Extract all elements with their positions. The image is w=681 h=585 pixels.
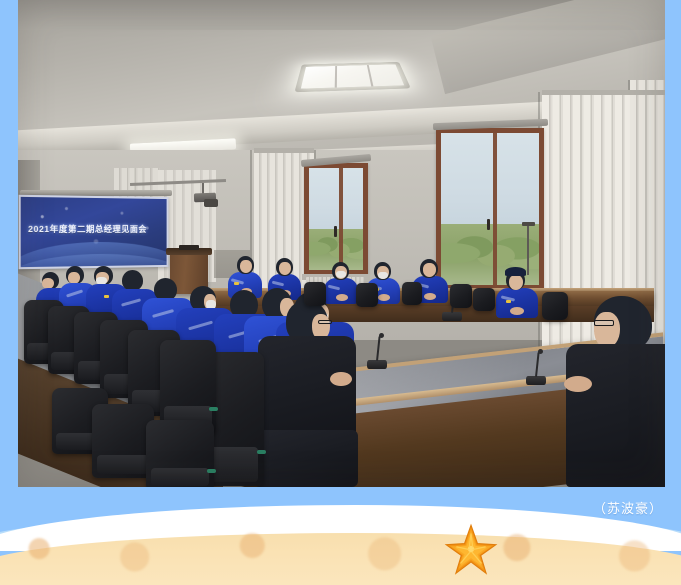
window-right [436, 128, 544, 290]
starfish-icon [441, 522, 501, 576]
chair-far-6 [473, 288, 495, 311]
projection-screen-title: 2021年度第二期总经理见面会 [28, 224, 166, 235]
hands-right [564, 376, 592, 392]
microphone-far [442, 312, 462, 321]
chair-far-3 [402, 282, 422, 305]
chair-far-5 [542, 292, 568, 320]
window-left [304, 163, 368, 275]
chair-row-8 [92, 404, 154, 478]
chair-far-2 [356, 283, 378, 307]
chair-row-9 [146, 420, 214, 487]
beach-footer [0, 487, 681, 585]
blinds-headrail-center [254, 148, 314, 153]
sand-band [0, 533, 681, 585]
hands-center [330, 372, 352, 386]
meeting-room-photo: 2021年度第二期总经理见面会 [18, 0, 665, 487]
eyeglasses-right [594, 320, 614, 326]
chair-far-4 [450, 284, 472, 308]
photo-credit: （苏波豪） [593, 498, 663, 517]
ceiling-lamp-main [294, 62, 411, 92]
wall-speaker [204, 199, 218, 207]
blinds-headrail-right [542, 90, 665, 95]
projection-screen: 2021年度第二期总经理见面会 [19, 195, 169, 269]
page-root: 2021年度第二期总经理见面会 [0, 0, 681, 585]
microphone-center [367, 360, 387, 369]
microphone-right [526, 376, 546, 385]
podium-document [179, 245, 199, 250]
eyeglasses-center [318, 320, 332, 324]
chair-far-1 [304, 282, 326, 306]
